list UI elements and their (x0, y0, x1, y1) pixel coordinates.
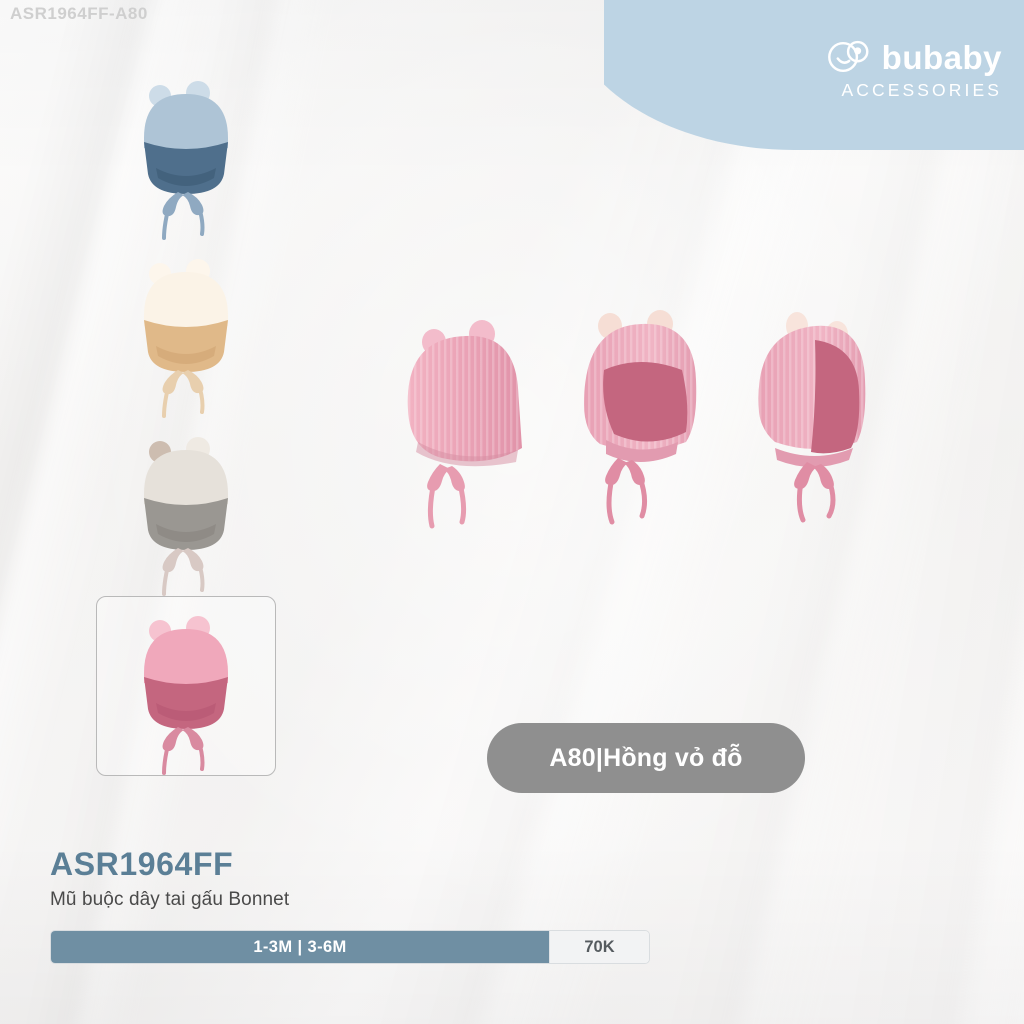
bonnet-hat-angle-icon (584, 310, 696, 522)
color-thumbnail-blue[interactable] (96, 62, 276, 240)
spec-bar: 1-3M | 3-6M 70K (50, 930, 650, 964)
price-label: 70K (549, 931, 649, 963)
main-product-photos (390, 300, 910, 600)
color-name-badge: A80|Hồng vỏ đỗ (487, 723, 805, 793)
watermark-code: ASR1964FF-A80 (10, 4, 148, 24)
product-description: Mũ buộc dây tai gấu Bonnet (50, 889, 974, 911)
bonnet-hat-front-icon (408, 320, 522, 526)
color-thumbnail-cream[interactable] (96, 240, 276, 418)
size-range-label: 1-3M | 3-6M (51, 931, 549, 963)
brand-name: bubaby (882, 41, 1002, 74)
bonnet-hat-icon (126, 432, 246, 582)
bonnet-hat-icon (126, 76, 246, 226)
bonnet-hat-icon (126, 611, 246, 761)
color-thumbnail-grey[interactable] (96, 418, 276, 596)
bonnet-hat-side-icon (758, 312, 865, 520)
color-thumbnail-pink-selected[interactable] (96, 596, 276, 776)
product-sku: ASR1964FF (50, 846, 974, 883)
brand-subtitle: ACCESSORIES (841, 80, 1002, 101)
bonnet-hat-icon (126, 254, 246, 404)
color-thumbnail-list (96, 62, 276, 776)
product-info: ASR1964FF Mũ buộc dây tai gấu Bonnet 1-3… (50, 846, 974, 964)
bubaby-logo-icon (827, 40, 873, 74)
brand-corner: bubaby ACCESSORIES (604, 0, 1024, 150)
